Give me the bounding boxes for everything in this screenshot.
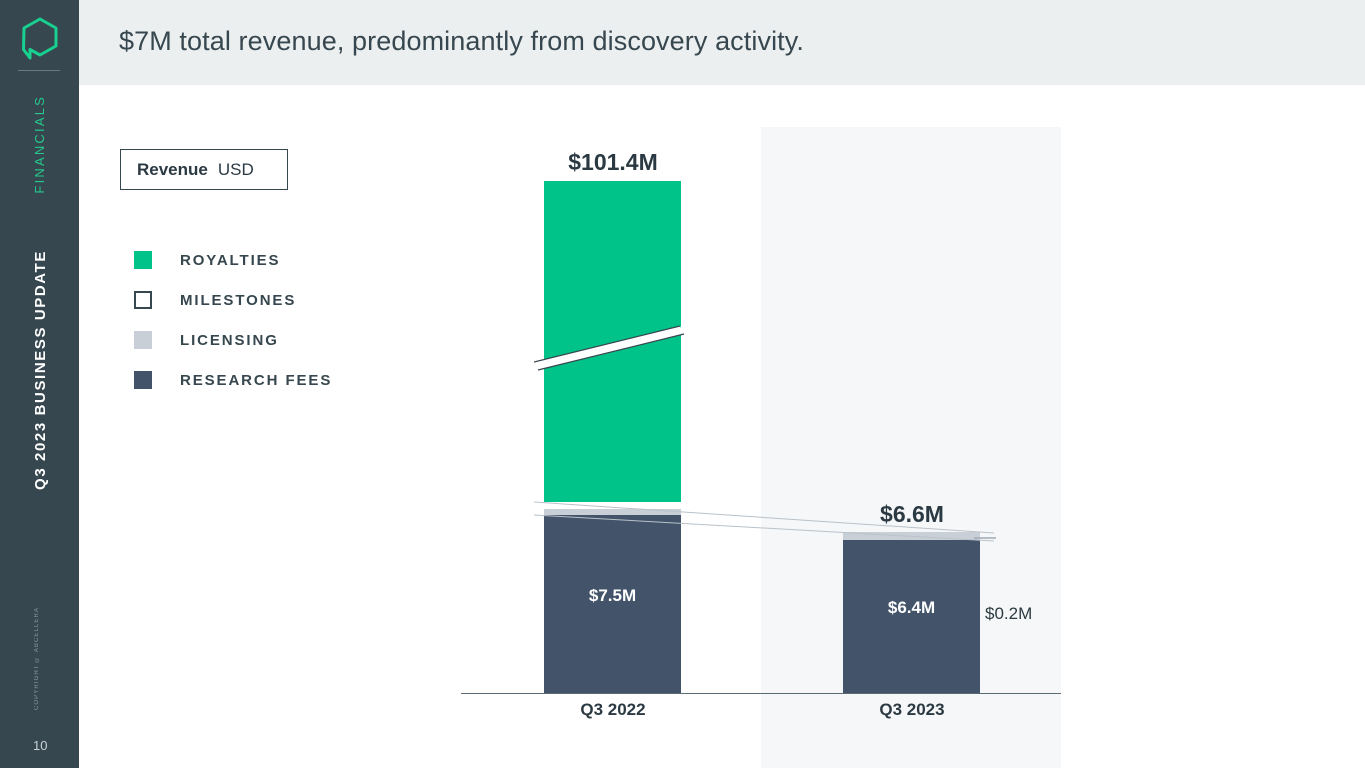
bar-q3-2022[interactable]: $7.5M — [544, 85, 681, 693]
bar-segment-research-fees-q3-2023[interactable]: $6.4M — [843, 540, 980, 693]
bar-segment-research-fees-q3-2022[interactable]: $7.5M — [544, 515, 681, 693]
sidebar-divider — [18, 70, 60, 71]
bar-segment-label-research-fees-q3-2023: $6.4M — [843, 598, 980, 618]
bar-q3-2023[interactable]: $6.4M — [843, 85, 980, 693]
sidebar-section-label[interactable]: FINANCIALS — [32, 95, 47, 194]
chart-axis-line — [461, 693, 1061, 694]
slide-canvas: Revenue USD ROYALTIES MILESTONES LICENSI… — [79, 85, 1365, 768]
licensing-leader-tick-icon — [974, 534, 996, 542]
abcellera-hexagon-logo-icon[interactable] — [18, 16, 62, 62]
stacked-bar-chart: $101.4M $6.6M $7.5M $6.4M $0.2M — [79, 85, 1365, 768]
sidebar-copyright: COPYRIGHT © ABCELLERA — [34, 607, 40, 710]
sidebar: FINANCIALS Q3 2023 BUSINESS UPDATE COPYR… — [0, 0, 79, 768]
page-title: $7M total revenue, predominantly from di… — [119, 26, 804, 57]
bar-segment-licensing-q3-2023[interactable] — [843, 532, 980, 540]
bar-segment-royalties-q3-2022[interactable] — [544, 181, 681, 502]
bar-segment-label-research-fees-q3-2022: $7.5M — [544, 586, 681, 606]
bar-segment-milestones-q3-2022[interactable] — [544, 502, 681, 509]
sidebar-deck-title: Q3 2023 BUSINESS UPDATE — [32, 250, 49, 490]
category-label-q3-2022: Q3 2022 — [513, 700, 713, 720]
page-number: 10 — [33, 738, 47, 753]
category-label-q3-2023: Q3 2023 — [812, 700, 1012, 720]
licensing-callout-label-q3-2023: $0.2M — [985, 604, 1032, 624]
